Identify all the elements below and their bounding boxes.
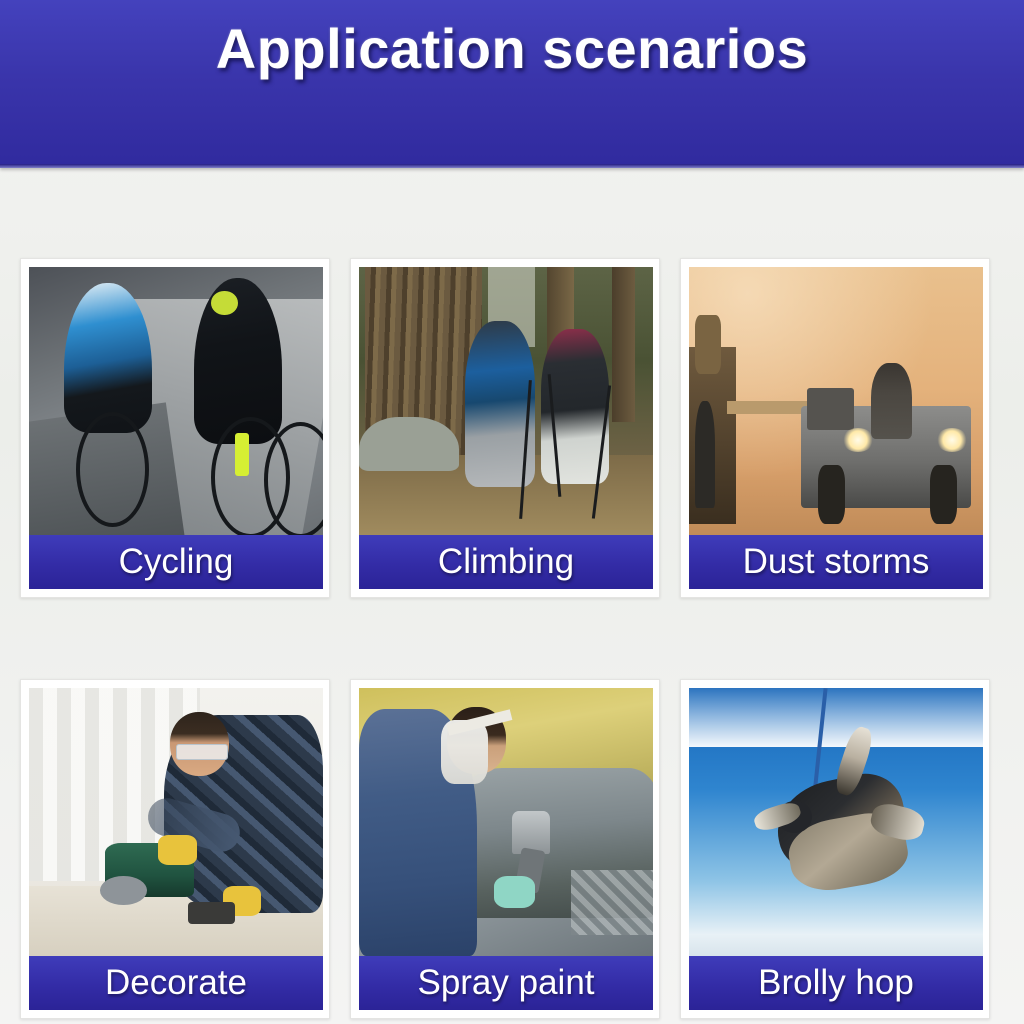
scenario-card-dust-storms[interactable]: Dust storms	[680, 258, 990, 598]
scenario-caption-dust-storms: Dust storms	[689, 535, 983, 589]
scenario-card-cycling[interactable]: Cycling	[20, 258, 330, 598]
scenario-row-2: Decorate Spray paint Brolly ho	[14, 679, 1010, 1024]
scenario-card-brolly-hop[interactable]: Brolly hop	[680, 679, 990, 1019]
scenario-image-decorate	[29, 688, 323, 956]
scenario-card-spray-paint[interactable]: Spray paint	[350, 679, 660, 1019]
scenario-caption-brolly-hop: Brolly hop	[689, 956, 983, 1010]
scenario-caption-decorate: Decorate	[29, 956, 323, 1010]
application-scenarios-page: Application scenarios Cycling	[0, 0, 1024, 1024]
page-title: Application scenarios	[0, 16, 1024, 81]
scenario-card-decorate[interactable]: Decorate	[20, 679, 330, 1019]
scenario-grid: Cycling Climbing	[14, 258, 1010, 1024]
scenario-image-brolly-hop	[689, 688, 983, 956]
scenario-card-climbing[interactable]: Climbing	[350, 258, 660, 598]
scenario-image-spray-paint	[359, 688, 653, 956]
scenario-image-climbing	[359, 267, 653, 535]
page-header-banner: Application scenarios	[0, 0, 1024, 168]
scenario-caption-climbing: Climbing	[359, 535, 653, 589]
scenario-image-dust-storms	[689, 267, 983, 535]
scenario-image-cycling	[29, 267, 323, 535]
scenario-caption-cycling: Cycling	[29, 535, 323, 589]
scenario-caption-spray-paint: Spray paint	[359, 956, 653, 1010]
scenario-row-1: Cycling Climbing	[14, 258, 1010, 603]
